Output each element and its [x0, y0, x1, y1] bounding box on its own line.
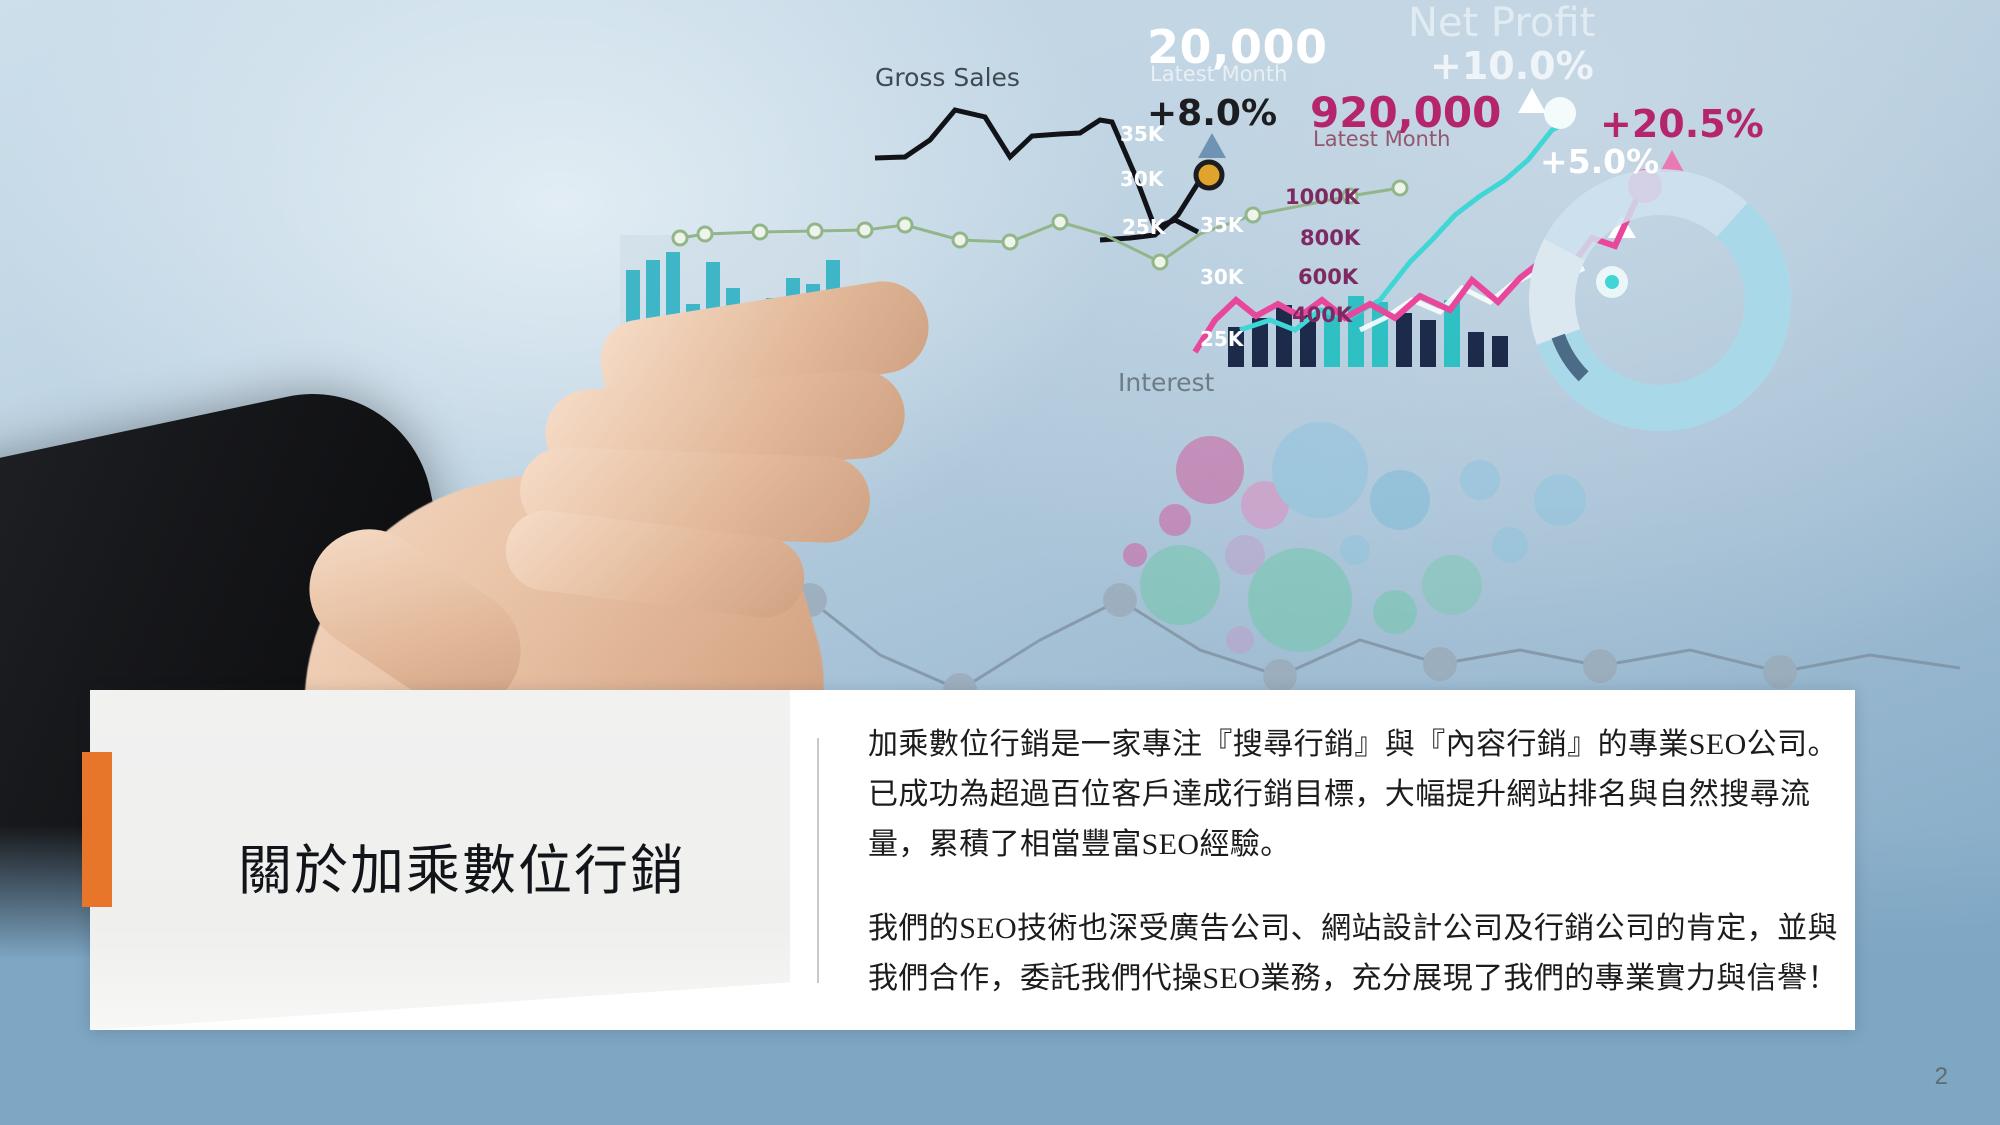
tick-right-600k: 600K	[1298, 265, 1358, 289]
body-text: 加乘數位行銷是一家專注『搜尋行銷』與『內容行銷』的專業SEO公司。已成功為超過百…	[868, 720, 1868, 1004]
label-interest: Interest	[1118, 368, 1214, 397]
paragraph-2: 我們的SEO技術也深受廣告公司、網站設計公司及行銷公司的肯定，並與我們合作，委託…	[868, 904, 1868, 1004]
tick-left-35k: 35K	[1120, 122, 1163, 146]
metric-pct-10: +10.0%	[1430, 44, 1594, 88]
tick-right-1000k: 1000K	[1285, 185, 1360, 209]
tick-mid-30k: 30K	[1200, 265, 1243, 289]
tick-left-30k: 30K	[1120, 167, 1163, 191]
page-number: 2	[1935, 1063, 1948, 1091]
metric-pct-8: +8.0%	[1147, 93, 1277, 134]
tick-right-400k: 400K	[1292, 303, 1352, 327]
label-net-profit: Net Profit	[1408, 0, 1595, 46]
slide-root: Gross Sales Interest 20,000 Latest Month…	[0, 0, 2000, 1125]
tick-mid-35k: 35K	[1200, 213, 1243, 237]
label-gross-sales: Gross Sales	[875, 63, 1020, 92]
paragraph-1: 加乘數位行銷是一家專注『搜尋行銷』與『內容行銷』的專業SEO公司。已成功為超過百…	[868, 720, 1868, 870]
label-latest-month-2: Latest Month	[1313, 127, 1450, 151]
tick-left-25k: 25K	[1122, 215, 1165, 239]
accent-bar	[82, 752, 112, 907]
metric-pct-205: +20.5%	[1600, 102, 1764, 146]
metric-pct-5: +5.0%	[1540, 142, 1659, 181]
tick-mid-25k: 25K	[1200, 327, 1243, 351]
vertical-divider	[817, 738, 819, 983]
label-latest-month-1: Latest Month	[1150, 62, 1287, 86]
page-title: 關於加乘數位行銷	[238, 826, 758, 905]
tick-right-800k: 800K	[1300, 226, 1360, 250]
